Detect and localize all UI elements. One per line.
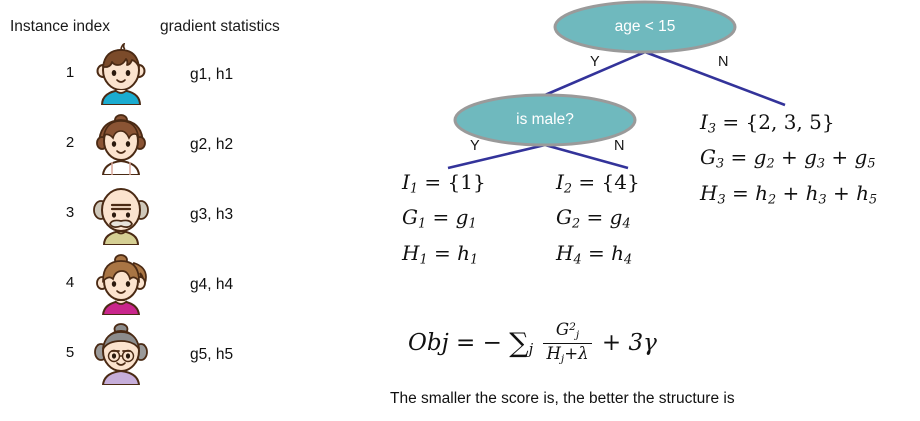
row-stats-3: g3, h3 bbox=[190, 206, 233, 224]
leaf-1-statistics: I1 = {1} G1 = g1 H1 = h1 bbox=[402, 168, 486, 274]
leaf-2-statistics: I2 = {4} G2 = g4 H4 = h4 bbox=[556, 168, 640, 274]
leaf-1-line-3: H1 = h1 bbox=[402, 239, 486, 274]
row-stats-5: g5, h5 bbox=[190, 346, 233, 364]
row-index-3: 3 bbox=[55, 204, 85, 221]
obj-equals: = bbox=[456, 330, 475, 356]
boy-young-avatar bbox=[90, 43, 152, 105]
elderly-woman-avatar bbox=[90, 323, 152, 385]
leaf-1-line-1: I1 = {1} bbox=[402, 168, 486, 203]
row-index-5: 5 bbox=[55, 344, 85, 361]
obj-numerator: G2j bbox=[543, 321, 591, 343]
obj-lhs: Obj bbox=[408, 330, 449, 356]
leaf-1-line-2: G1 = g1 bbox=[402, 203, 486, 238]
row-stats-4: g4, h4 bbox=[190, 276, 233, 294]
leaf-2-line-3: H4 = h4 bbox=[556, 239, 640, 274]
row-index-1: 1 bbox=[55, 64, 85, 81]
row-index-4: 4 bbox=[55, 274, 85, 291]
leaf-3-line-1: I3 = {2, 3, 5} bbox=[700, 108, 877, 143]
figure-canvas: Instance index gradient statistics 1 g1,… bbox=[0, 0, 920, 421]
leaf-3-line-3: H3 = h2 + h3 + h5 bbox=[700, 179, 877, 214]
edge-root-no bbox=[645, 52, 785, 105]
obj-coefficient: 3 bbox=[628, 330, 643, 356]
obj-plus: + bbox=[602, 330, 621, 356]
tree-node-root-label: age < 15 bbox=[555, 18, 735, 36]
girl-ponytail-avatar bbox=[90, 253, 152, 315]
obj-denominator: Hj+λ bbox=[543, 343, 591, 366]
column-header-instance-index: Instance index bbox=[10, 18, 110, 36]
summation-icon: ∑ bbox=[509, 328, 528, 359]
edge-label-ismale-no: N bbox=[614, 138, 624, 154]
leaf-3-line-2: G3 = g2 + g3 + g5 bbox=[700, 143, 877, 178]
girl-young-avatar bbox=[90, 113, 152, 175]
row-index-2: 2 bbox=[55, 134, 85, 151]
tree-node-is-male-label: is male? bbox=[455, 111, 635, 129]
edge-ismale-yes bbox=[448, 145, 545, 168]
column-header-gradient-statistics: gradient statistics bbox=[160, 18, 280, 36]
obj-fraction: G2j Hj+λ bbox=[543, 321, 591, 365]
objective-formula: Obj = − ∑j G2j Hj+λ + 3γ bbox=[408, 322, 657, 366]
tree-node-is-male bbox=[455, 95, 635, 145]
obj-minus: − bbox=[483, 330, 502, 356]
figure-caption: The smaller the score is, the better the… bbox=[390, 390, 735, 408]
elderly-man-avatar bbox=[90, 183, 152, 245]
leaf-2-line-1: I2 = {4} bbox=[556, 168, 640, 203]
tree-node-root bbox=[555, 2, 735, 52]
obj-sum-index: j bbox=[529, 341, 534, 358]
edge-label-ismale-yes: Y bbox=[470, 138, 480, 154]
row-stats-1: g1, h1 bbox=[190, 66, 233, 84]
row-stats-2: g2, h2 bbox=[190, 136, 233, 154]
gamma-symbol: γ bbox=[643, 330, 657, 356]
leaf-2-line-2: G2 = g4 bbox=[556, 203, 640, 238]
edge-label-root-yes: Y bbox=[590, 54, 600, 70]
edge-label-root-no: N bbox=[718, 54, 728, 70]
leaf-3-statistics: I3 = {2, 3, 5} G3 = g2 + g3 + g5 H3 = h2… bbox=[700, 108, 877, 214]
